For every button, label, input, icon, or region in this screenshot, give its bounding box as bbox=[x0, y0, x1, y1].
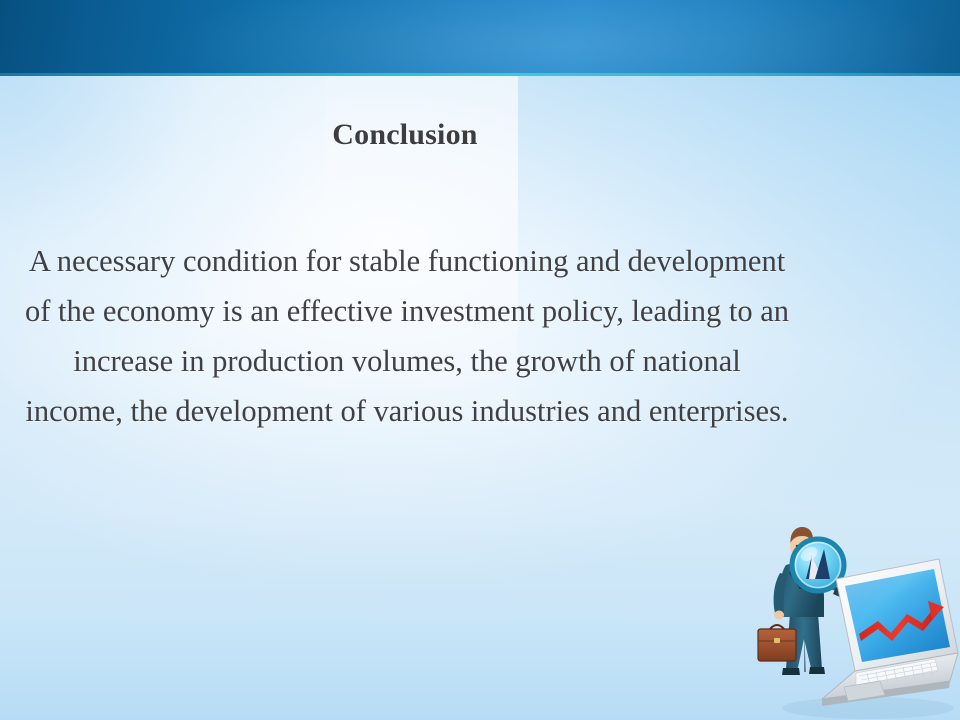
illustration-shadow bbox=[782, 697, 954, 719]
businessman-shoe-right bbox=[809, 667, 825, 674]
businessman-shoe-left bbox=[782, 668, 800, 675]
slide-body-text: A necessary condition for stable functio… bbox=[22, 236, 792, 436]
slide-header-banner bbox=[0, 0, 960, 73]
laptop bbox=[822, 559, 958, 706]
presentation-slide: Conclusion A necessary condition for sta… bbox=[0, 0, 960, 720]
businessman-laptop-illustration bbox=[752, 521, 960, 720]
slide-title: Conclusion bbox=[0, 118, 810, 152]
banner-sheen bbox=[0, 0, 960, 73]
banner-accent-line bbox=[0, 73, 960, 76]
briefcase bbox=[758, 625, 796, 661]
briefcase-latch bbox=[774, 638, 780, 643]
